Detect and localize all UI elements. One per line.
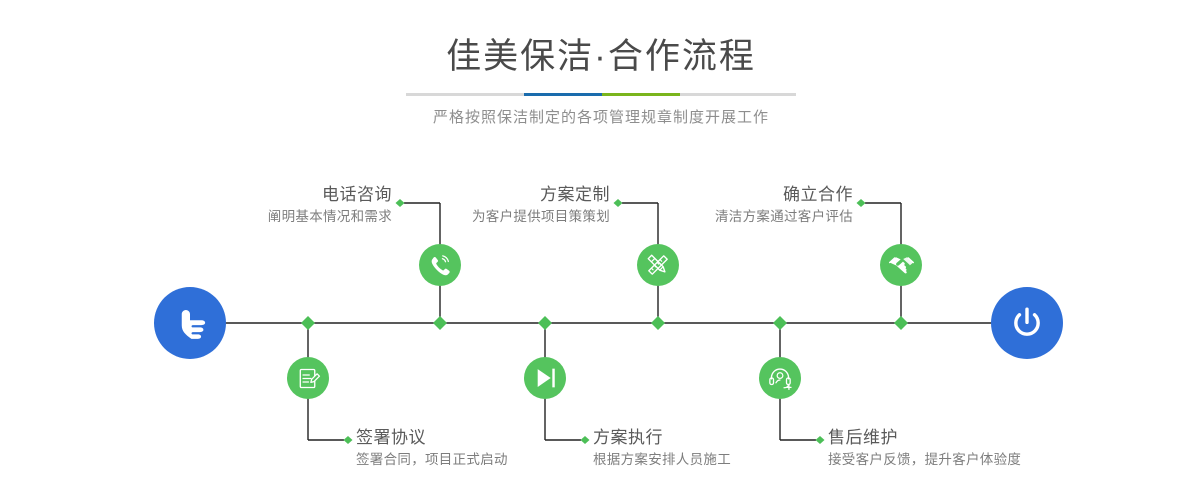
cooperation-process-infographic: 佳美保洁·合作流程 严格按照保洁制定的各项管理规章制度开展工作 xyxy=(0,0,1202,502)
diamond-marker-stage-6 xyxy=(773,316,787,330)
headset-add-icon xyxy=(767,365,793,391)
diamond-marker-stage-5 xyxy=(894,316,908,330)
process-end-badge[interactable] xyxy=(991,287,1063,359)
stage-title-6: 售后维护 xyxy=(828,426,1168,449)
stage-node-4[interactable] xyxy=(524,357,566,399)
stage-node-3[interactable] xyxy=(637,244,679,286)
document-pencil-icon xyxy=(296,366,321,391)
handshake-icon xyxy=(888,252,915,279)
label-diamond-stage-2 xyxy=(344,436,353,444)
stage-node-6[interactable] xyxy=(759,357,801,399)
stage-label-5: 确立合作 清洁方案通过客户评估 xyxy=(553,183,853,227)
stage-node-2[interactable] xyxy=(287,357,329,399)
stage-desc-5: 清洁方案通过客户评估 xyxy=(553,206,853,227)
ringing-phone-icon xyxy=(427,252,453,278)
process-start-badge[interactable] xyxy=(154,287,226,359)
pointing-hand-icon xyxy=(168,301,212,345)
diamond-marker-stage-4 xyxy=(538,316,552,330)
diamond-marker-stage-2 xyxy=(301,316,315,330)
pencil-ruler-icon xyxy=(645,252,671,278)
diamond-marker-stage-1 xyxy=(433,316,447,330)
label-diamond-stage-5 xyxy=(857,199,866,207)
stage-node-1[interactable] xyxy=(419,244,461,286)
play-skip-icon xyxy=(532,365,558,391)
stage-title-5: 确立合作 xyxy=(553,183,853,206)
stage-label-6: 售后维护 接受客户反馈，提升客户体验度 xyxy=(828,426,1168,470)
diamond-marker-stage-3 xyxy=(651,316,665,330)
stage-node-5[interactable] xyxy=(880,244,922,286)
power-icon xyxy=(1006,302,1048,344)
stage-desc-6: 接受客户反馈，提升客户体验度 xyxy=(828,449,1168,470)
